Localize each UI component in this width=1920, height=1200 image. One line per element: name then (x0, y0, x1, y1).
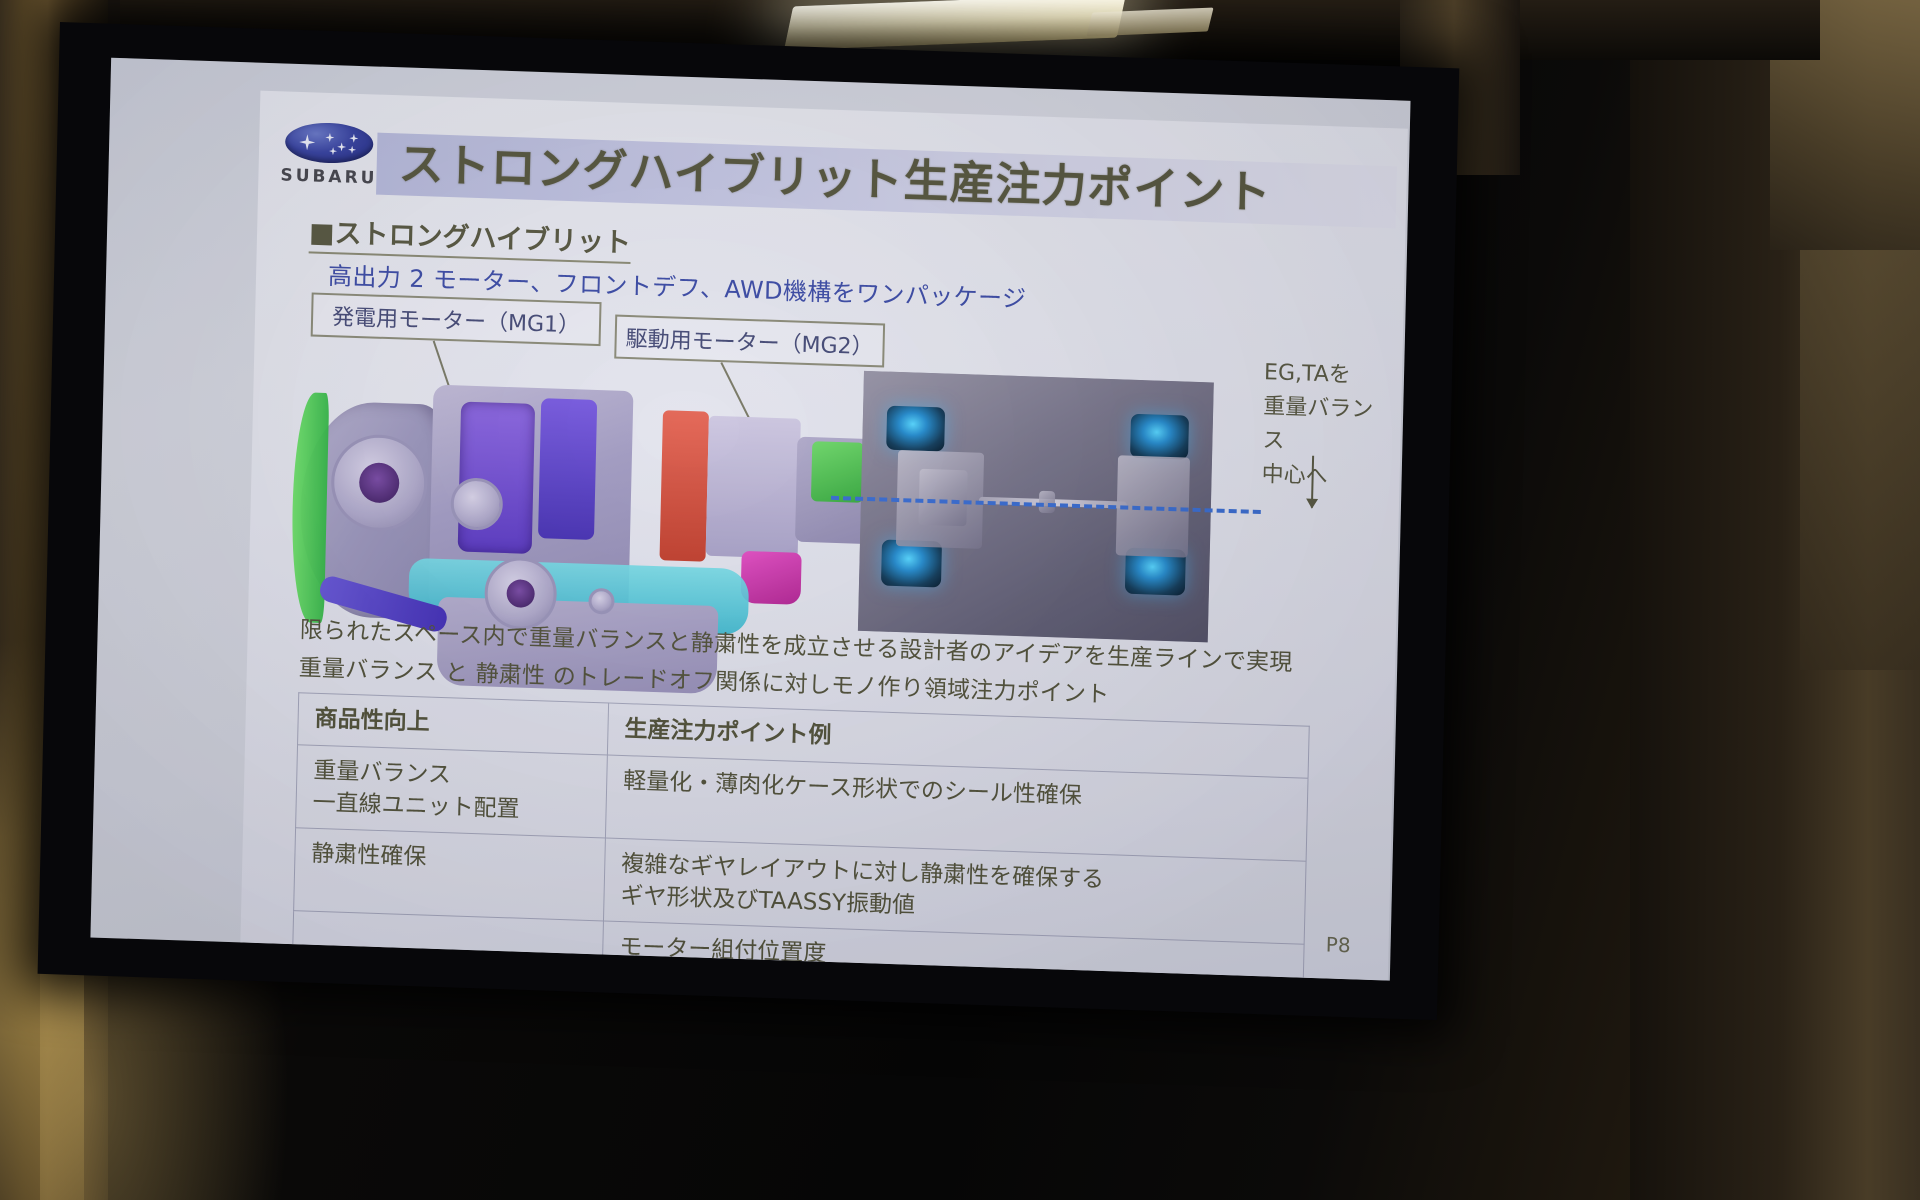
projection-screen-assembly: ストロングハイブリット生産注力ポイント SUBARU ■ストロングハイブリット … (38, 22, 1460, 1020)
table-cell-category-0: 重量バランス 一直線ユニット配置 (296, 745, 608, 838)
cell-line: 静粛性確保 (311, 838, 589, 879)
presentation-slide: ストロングハイブリット生産注力ポイント SUBARU ■ストロングハイブリット … (240, 91, 1407, 981)
logo-star-2 (337, 142, 346, 151)
subaru-wordmark: SUBARU (280, 165, 376, 188)
mg1-stator (458, 401, 535, 553)
callout-mg1: 発電用モーター（MG1） (311, 292, 602, 346)
front-diff-highlight (741, 551, 802, 605)
eg-ta-annotation: EG,TAを 重量バランス 中心へ (1261, 356, 1389, 496)
logo-oval-shape (285, 122, 374, 165)
eg-ta-line-2: 重量バランス (1262, 390, 1389, 462)
wheel-front-right (1130, 414, 1189, 460)
logo-star-3 (349, 134, 358, 143)
eg-ta-line-3: 中心へ (1261, 458, 1387, 496)
subaru-logo-icon: SUBARU (280, 121, 378, 198)
eg-ta-line-1: EG,TAを (1264, 356, 1390, 394)
projection-screen-surface: ストロングハイブリット生産注力ポイント SUBARU ■ストロングハイブリット … (90, 58, 1410, 981)
logo-star-5 (329, 147, 337, 155)
powertrain-unit (918, 469, 967, 527)
logo-star-4 (348, 146, 356, 154)
focus-points-table: 商品性向上 生産注力ポイント例 重量バランス 一直線ユニット配置 軽量化・薄肉化… (292, 692, 1310, 980)
table-cell-category-1: 静粛性確保 (294, 828, 606, 921)
right-wall-lower-panel (1800, 250, 1920, 670)
logo-star-1 (325, 133, 334, 142)
wheel-front-left (886, 406, 945, 452)
rear-case-green-highlight (811, 441, 864, 503)
page-number: P8 (1326, 932, 1351, 957)
logo-star-big (299, 134, 315, 151)
mg2-rotor (659, 410, 709, 561)
mg2-stator-core (706, 416, 801, 559)
mg1-rotor (538, 398, 597, 540)
page-title: ストロングハイブリット生産注力ポイント (398, 129, 1399, 232)
